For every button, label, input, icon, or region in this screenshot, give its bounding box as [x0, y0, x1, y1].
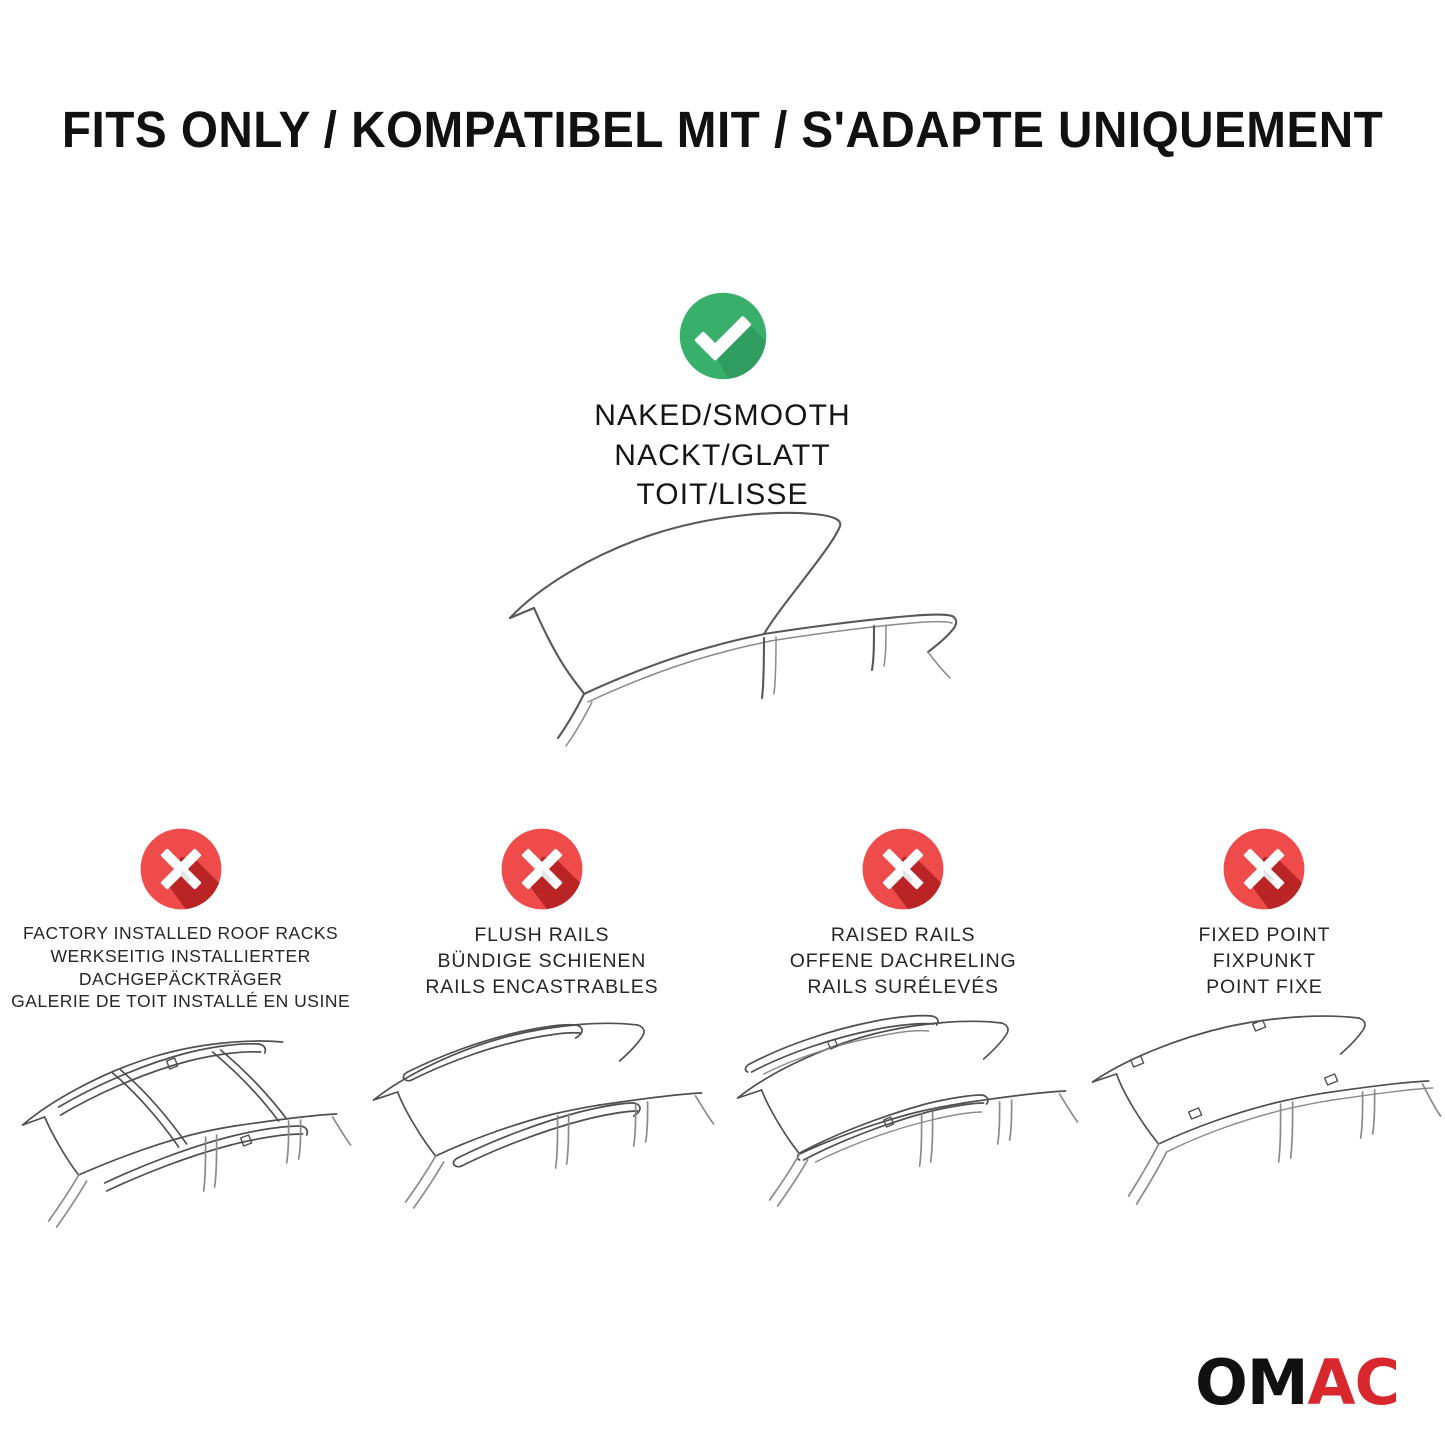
incompatible-item-flush-rails: FLUSH RAILS BÜNDIGE SCHIENEN RAILS ENCAS… [361, 826, 722, 1242]
page-title-text: FITS ONLY / KOMPATIBEL MIT / S'ADAPTE UN… [62, 104, 1383, 155]
label-fr: RAILS SURÉLEVÉS [790, 974, 1017, 1000]
label-de-1: WERKSEITIG INSTALLIERTER [11, 945, 350, 968]
label-de-1: OFFENE DACHRELING [790, 948, 1017, 974]
incompatible-item-factory-installed-roof-racks: FACTORY INSTALLED ROOF RACKS WERKSEITIG … [0, 826, 361, 1255]
compatible-label-en: NAKED/SMOOTH [0, 396, 1445, 436]
omac-logo: OMAC [1195, 1347, 1399, 1419]
page-title: FITS ONLY / KOMPATIBEL MIT / S'ADAPTE UN… [0, 104, 1445, 155]
incompatible-label: FIXED POINT FIXPUNKT POINT FIXE [1198, 922, 1330, 1000]
label-fr: GALERIE DE TOIT INSTALLÉ EN USINE [11, 990, 350, 1013]
car-roof-raised-rails-illustration [723, 1012, 1084, 1242]
check-circle-icon [677, 290, 769, 382]
label-en: FACTORY INSTALLED ROOF RACKS [11, 922, 350, 945]
x-circle-icon [138, 826, 224, 912]
logo-text-accent: AC [1308, 1352, 1399, 1414]
incompatible-item-fixed-point: FIXED POINT FIXPUNKT POINT FIXE [1084, 826, 1445, 1242]
x-circle-icon [499, 826, 585, 912]
label-fr: POINT FIXE [1198, 974, 1330, 1000]
compatible-section: NAKED/SMOOTH NACKT/GLATT TOIT/LISSE [0, 290, 1445, 515]
label-de-2: DACHGEPÄCKTRÄGER [11, 968, 350, 991]
incompatible-section: FACTORY INSTALLED ROOF RACKS WERKSEITIG … [0, 826, 1445, 1255]
car-roof-flush-rails-illustration [361, 1012, 722, 1242]
car-roof-fixed-point-illustration [1084, 1012, 1445, 1242]
incompatible-item-raised-rails: RAISED RAILS OFFENE DACHRELING RAILS SUR… [723, 826, 1084, 1242]
label-de-1: FIXPUNKT [1198, 948, 1330, 974]
car-roof-naked-smooth-illustration [442, 492, 1002, 762]
compatible-label-de: NACKT/GLATT [0, 436, 1445, 476]
label-fr: RAILS ENCASTRABLES [425, 974, 658, 1000]
logo-text-dark: OM [1195, 1352, 1307, 1414]
label-en: FLUSH RAILS [425, 922, 658, 948]
car-roof-factory-rack-illustration [0, 1025, 361, 1255]
incompatible-label: FACTORY INSTALLED ROOF RACKS WERKSEITIG … [11, 922, 350, 1013]
incompatible-label: FLUSH RAILS BÜNDIGE SCHIENEN RAILS ENCAS… [425, 922, 658, 1000]
x-circle-icon [860, 826, 946, 912]
incompatible-label: RAISED RAILS OFFENE DACHRELING RAILS SUR… [790, 922, 1017, 1000]
label-en: FIXED POINT [1198, 922, 1330, 948]
x-circle-icon [1221, 826, 1307, 912]
label-en: RAISED RAILS [790, 922, 1017, 948]
label-de-1: BÜNDIGE SCHIENEN [425, 948, 658, 974]
